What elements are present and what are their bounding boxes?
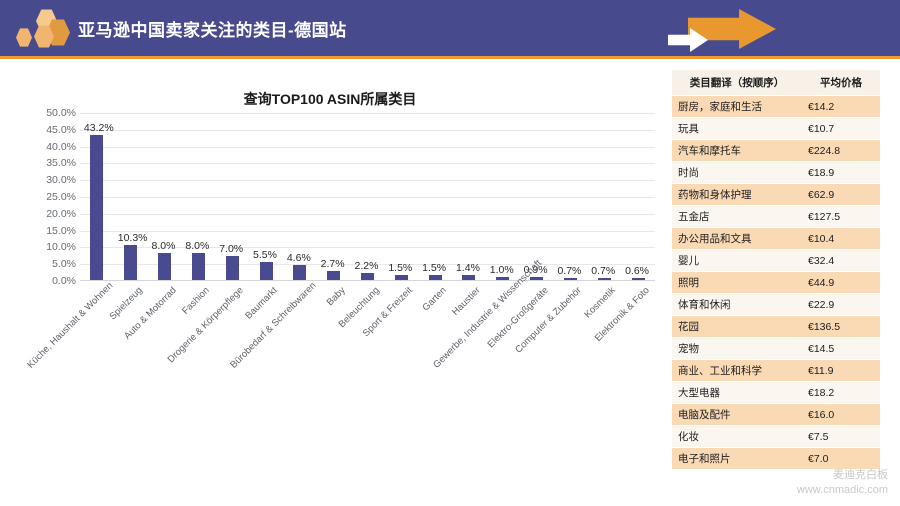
- cell-price: €18.9: [802, 162, 880, 184]
- gridline: [80, 113, 655, 114]
- plot-area: 43.2%10.3%8.0%8.0%7.0%5.5%4.6%2.7%2.2%1.…: [80, 113, 655, 281]
- header-arrow-graphic: [660, 0, 900, 59]
- cell-price: €10.7: [802, 118, 880, 140]
- bar-value-label: 8.0%: [152, 240, 176, 252]
- table-row: 办公用品和文具€10.4: [672, 228, 880, 250]
- cell-price: €22.9: [802, 294, 880, 316]
- bar-value-label: 10.3%: [118, 232, 148, 244]
- cell-category: 电脑及配件: [672, 404, 802, 426]
- cell-price: €224.8: [802, 140, 880, 162]
- y-axis-tick-label: 45.0%: [46, 124, 76, 136]
- table-row: 药物和身体护理€62.9: [672, 184, 880, 206]
- watermark-brand: 麦迪克白板: [797, 468, 888, 483]
- cell-price: €18.2: [802, 382, 880, 404]
- table-row: 厨房，家庭和生活€14.2: [672, 96, 880, 118]
- cell-price: €32.4: [802, 250, 880, 272]
- x-axis-labels: Küche, Haushalt & WohnenSpielzeugAuto & …: [80, 285, 655, 405]
- table-row: 商业、工业和科学€11.9: [672, 360, 880, 382]
- bar: [632, 278, 645, 280]
- table-row: 体育和休闲€22.9: [672, 294, 880, 316]
- cell-price: €44.9: [802, 272, 880, 294]
- y-axis-labels: 50.0%45.0%40.0%35.0%30.0%25.0%20.0%15.0%…: [30, 113, 76, 281]
- bar: [124, 245, 137, 280]
- cell-price: €14.2: [802, 96, 880, 118]
- slide-root: 亚马逊中国卖家关注的类目-德国站 查询TOP100 ASIN所属类目 50.0%…: [0, 0, 900, 506]
- gridline: [80, 130, 655, 131]
- bar-value-label: 1.4%: [456, 262, 480, 274]
- table-row: 化妆€7.5: [672, 426, 880, 448]
- y-axis-tick-label: 25.0%: [46, 191, 76, 203]
- cell-category: 办公用品和文具: [672, 228, 802, 250]
- cell-category: 电子和照片: [672, 448, 802, 470]
- cell-price: €136.5: [802, 316, 880, 338]
- cell-category: 花园: [672, 316, 802, 338]
- y-axis-tick-label: 30.0%: [46, 174, 76, 186]
- bar-chart: 50.0%45.0%40.0%35.0%30.0%25.0%20.0%15.0%…: [30, 113, 655, 293]
- bar-value-label: 7.0%: [219, 243, 243, 255]
- brand-logo-icon: [14, 7, 70, 51]
- y-axis-tick-label: 0.0%: [52, 275, 76, 287]
- cell-category: 时尚: [672, 162, 802, 184]
- bar: [260, 262, 273, 280]
- bar: [293, 265, 306, 280]
- bar: [462, 275, 475, 280]
- bar-value-label: 1.5%: [388, 262, 412, 274]
- bar: [226, 256, 239, 280]
- table-row: 宠物€14.5: [672, 338, 880, 360]
- table-row: 电子和照片€7.0: [672, 448, 880, 470]
- cell-price: €7.0: [802, 448, 880, 470]
- bar-value-label: 8.0%: [185, 240, 209, 252]
- bar-value-label: 1.0%: [490, 264, 514, 276]
- y-axis-tick-label: 40.0%: [46, 141, 76, 153]
- table-header-row: 类目翻译（按顺序） 平均价格: [672, 70, 880, 96]
- cell-category: 体育和休闲: [672, 294, 802, 316]
- table-row: 大型电器€18.2: [672, 382, 880, 404]
- bar-value-label: 43.2%: [84, 122, 114, 134]
- y-axis-tick-label: 15.0%: [46, 225, 76, 237]
- cell-price: €14.5: [802, 338, 880, 360]
- table-row: 照明€44.9: [672, 272, 880, 294]
- bar-value-label: 5.5%: [253, 249, 277, 261]
- gridline: [80, 197, 655, 198]
- bar-value-label: 0.7%: [591, 265, 615, 277]
- cell-category: 汽车和摩托车: [672, 140, 802, 162]
- category-price-table: 类目翻译（按顺序） 平均价格 厨房，家庭和生活€14.2玩具€10.7汽车和摩托…: [672, 70, 880, 470]
- y-axis-tick-label: 10.0%: [46, 241, 76, 253]
- cell-category: 婴儿: [672, 250, 802, 272]
- logo-hexagon-left: [16, 28, 32, 47]
- y-axis-tick-label: 35.0%: [46, 157, 76, 169]
- x-axis-line: [80, 280, 655, 281]
- cell-category: 厨房，家庭和生活: [672, 96, 802, 118]
- gridline: [80, 231, 655, 232]
- cell-category: 五金店: [672, 206, 802, 228]
- bar: [598, 278, 611, 280]
- gridline: [80, 180, 655, 181]
- table-row: 婴儿€32.4: [672, 250, 880, 272]
- cell-category: 宠物: [672, 338, 802, 360]
- bar: [395, 275, 408, 280]
- chart-title: 查询TOP100 ASIN所属类目: [170, 89, 490, 109]
- page-title: 亚马逊中国卖家关注的类目-德国站: [78, 16, 347, 41]
- bar-value-label: 2.2%: [355, 260, 379, 272]
- gridline: [80, 147, 655, 148]
- table-row: 电脑及配件€16.0: [672, 404, 880, 426]
- bar-value-label: 0.7%: [557, 265, 581, 277]
- watermark-url: www.cnmadic.com: [797, 483, 888, 498]
- cell-price: €11.9: [802, 360, 880, 382]
- column-header-category: 类目翻译（按顺序）: [672, 70, 802, 96]
- column-header-price: 平均价格: [802, 70, 880, 96]
- table-row: 时尚€18.9: [672, 162, 880, 184]
- gridline: [80, 214, 655, 215]
- cell-price: €62.9: [802, 184, 880, 206]
- y-axis-tick-label: 20.0%: [46, 208, 76, 220]
- bar: [90, 135, 103, 280]
- bar: [496, 277, 509, 280]
- watermark: 麦迪克白板 www.cnmadic.com: [797, 468, 888, 498]
- y-axis-tick-label: 50.0%: [46, 107, 76, 119]
- bar-value-label: 4.6%: [287, 252, 311, 264]
- cell-category: 化妆: [672, 426, 802, 448]
- bar: [361, 273, 374, 280]
- cell-price: €127.5: [802, 206, 880, 228]
- bar-value-label: 0.6%: [625, 265, 649, 277]
- cell-price: €10.4: [802, 228, 880, 250]
- table-row: 汽车和摩托车€224.8: [672, 140, 880, 162]
- bar-value-label: 1.5%: [422, 262, 446, 274]
- cell-category: 大型电器: [672, 382, 802, 404]
- bar-value-label: 2.7%: [321, 258, 345, 270]
- cell-category: 照明: [672, 272, 802, 294]
- bar: [429, 275, 442, 280]
- table-row: 玩具€10.7: [672, 118, 880, 140]
- bar: [192, 253, 205, 280]
- bar: [158, 253, 171, 280]
- bar: [564, 278, 577, 280]
- cell-category: 药物和身体护理: [672, 184, 802, 206]
- y-axis-tick-label: 5.0%: [52, 258, 76, 270]
- cell-category: 商业、工业和科学: [672, 360, 802, 382]
- table-row: 花园€136.5: [672, 316, 880, 338]
- cell-price: €16.0: [802, 404, 880, 426]
- gridline: [80, 163, 655, 164]
- cell-category: 玩具: [672, 118, 802, 140]
- table-row: 五金店€127.5: [672, 206, 880, 228]
- bar: [327, 271, 340, 280]
- cell-price: €7.5: [802, 426, 880, 448]
